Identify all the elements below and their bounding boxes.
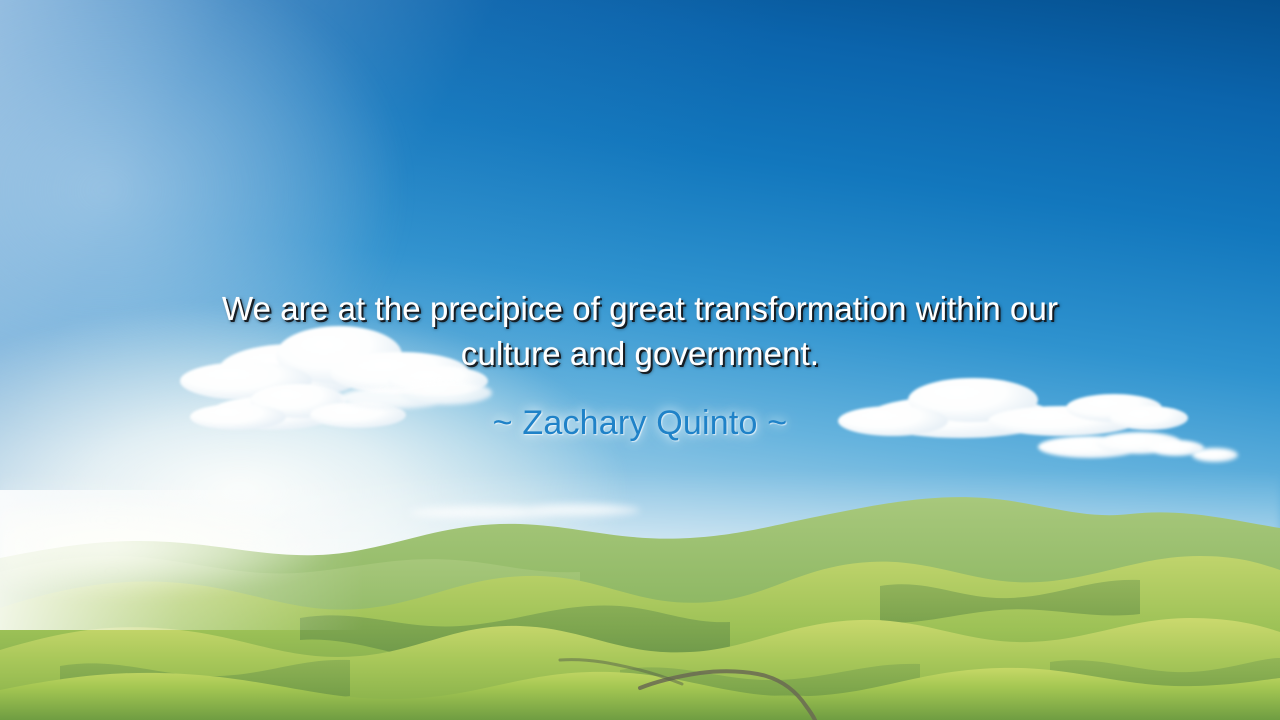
hills-left-haze	[0, 490, 520, 630]
green-hills-landscape	[0, 490, 1280, 720]
quote-block: We are at the precipice of great transfo…	[0, 286, 1280, 444]
quote-text: We are at the precipice of great transfo…	[0, 286, 1280, 376]
hill-foreground	[0, 668, 1280, 720]
quote-image: We are at the precipice of great transfo…	[0, 0, 1280, 720]
quote-attribution: ~ Zachary Quinto ~	[0, 376, 1280, 444]
hills-svg	[0, 490, 1280, 720]
